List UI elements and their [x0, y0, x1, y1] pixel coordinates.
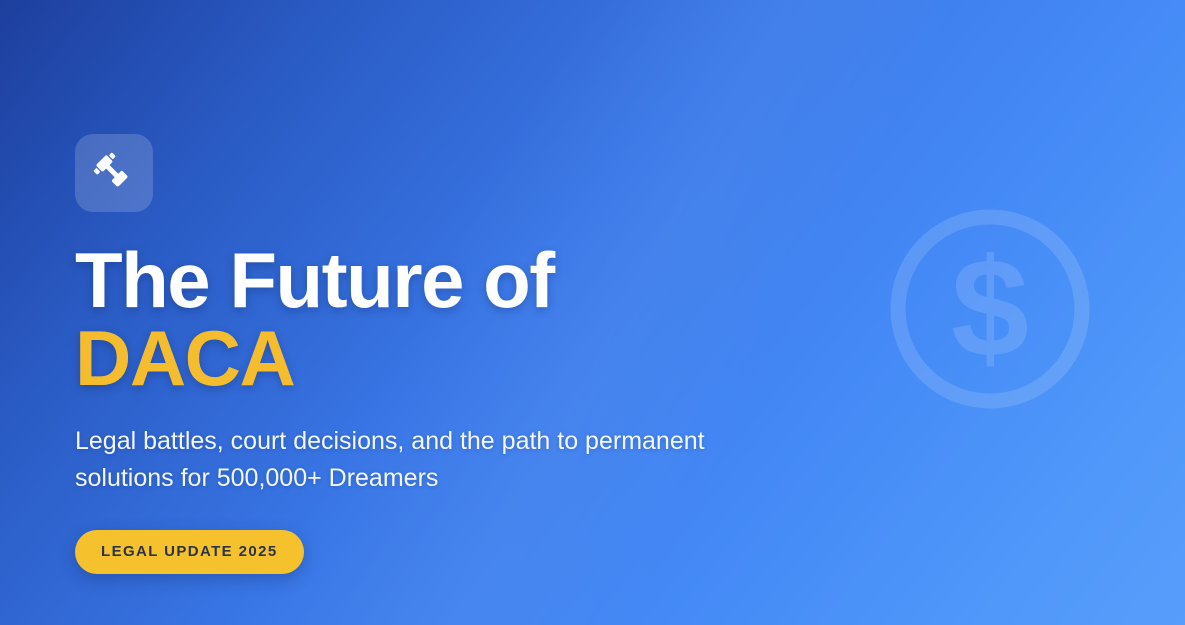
page-title: The Future of DACA — [75, 243, 875, 395]
status-badge[interactable]: LEGAL UPDATE 2025 — [75, 530, 304, 574]
hero-content: The Future of DACA Legal battles, court … — [75, 134, 875, 574]
dollar-coin-icon: $ — [890, 209, 1090, 409]
hero-banner: $ The Future of DACA Legal battles, cour… — [0, 0, 1185, 625]
svg-text:$: $ — [951, 229, 1029, 386]
page-title-line-1: The Future of — [75, 243, 875, 317]
gavel-icon-tile — [75, 134, 153, 212]
gavel-icon — [93, 152, 135, 194]
page-title-line-2: DACA — [75, 321, 875, 395]
page-subtitle: Legal battles, court decisions, and the … — [75, 423, 805, 496]
